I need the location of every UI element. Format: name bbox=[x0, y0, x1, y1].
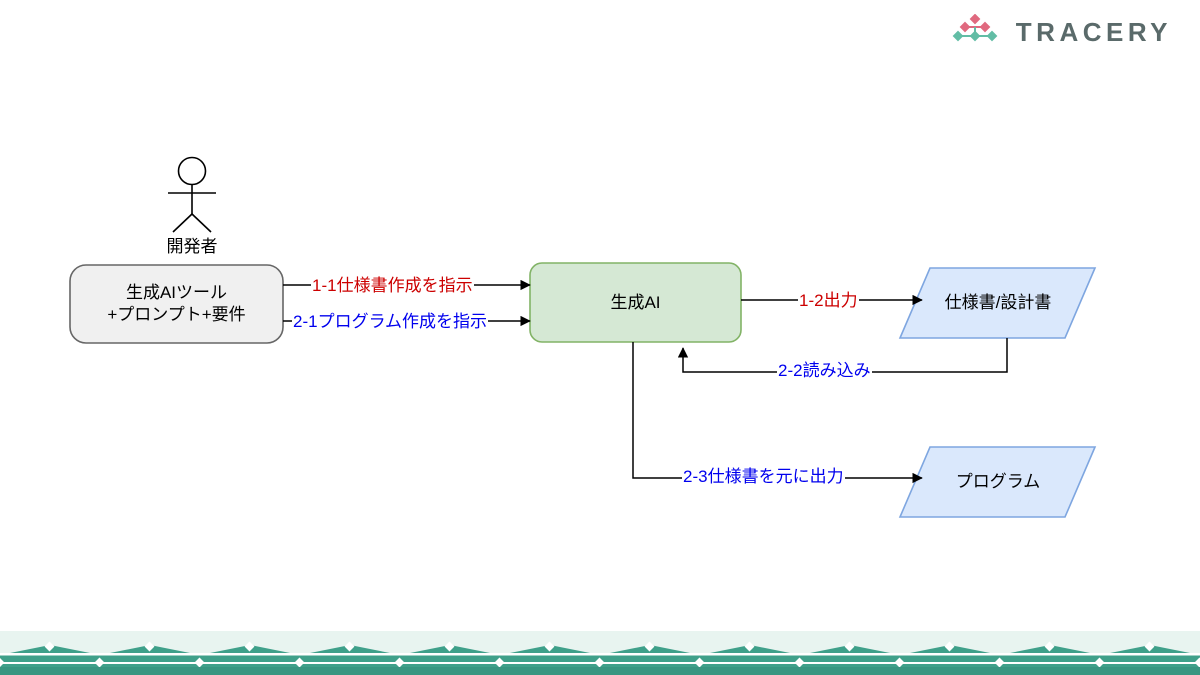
node-spec-design-doc bbox=[900, 268, 1095, 338]
node-generative-ai bbox=[530, 263, 741, 342]
footer-decorative-band bbox=[0, 631, 1200, 675]
edge-1-2-label: 1-2出力 bbox=[798, 292, 859, 309]
edge-2-2-label: 2-2読み込み bbox=[777, 362, 872, 379]
slide-canvas: TRACERY bbox=[0, 0, 1200, 675]
actor-developer-figure bbox=[168, 158, 216, 233]
edge-2-1-label: 2-1プログラム作成を指示 bbox=[292, 313, 488, 330]
edge-2-3-label: 2-3仕様書を元に出力 bbox=[682, 468, 845, 485]
node-program bbox=[900, 447, 1095, 517]
node-ai-tool-input bbox=[70, 265, 283, 343]
footer-band-pattern bbox=[0, 631, 1200, 675]
edge-1-1-label: 1-1仕様書作成を指示 bbox=[311, 277, 474, 294]
actor-developer-label: 開発者 bbox=[122, 232, 262, 257]
architecture-diagram bbox=[0, 0, 1200, 675]
